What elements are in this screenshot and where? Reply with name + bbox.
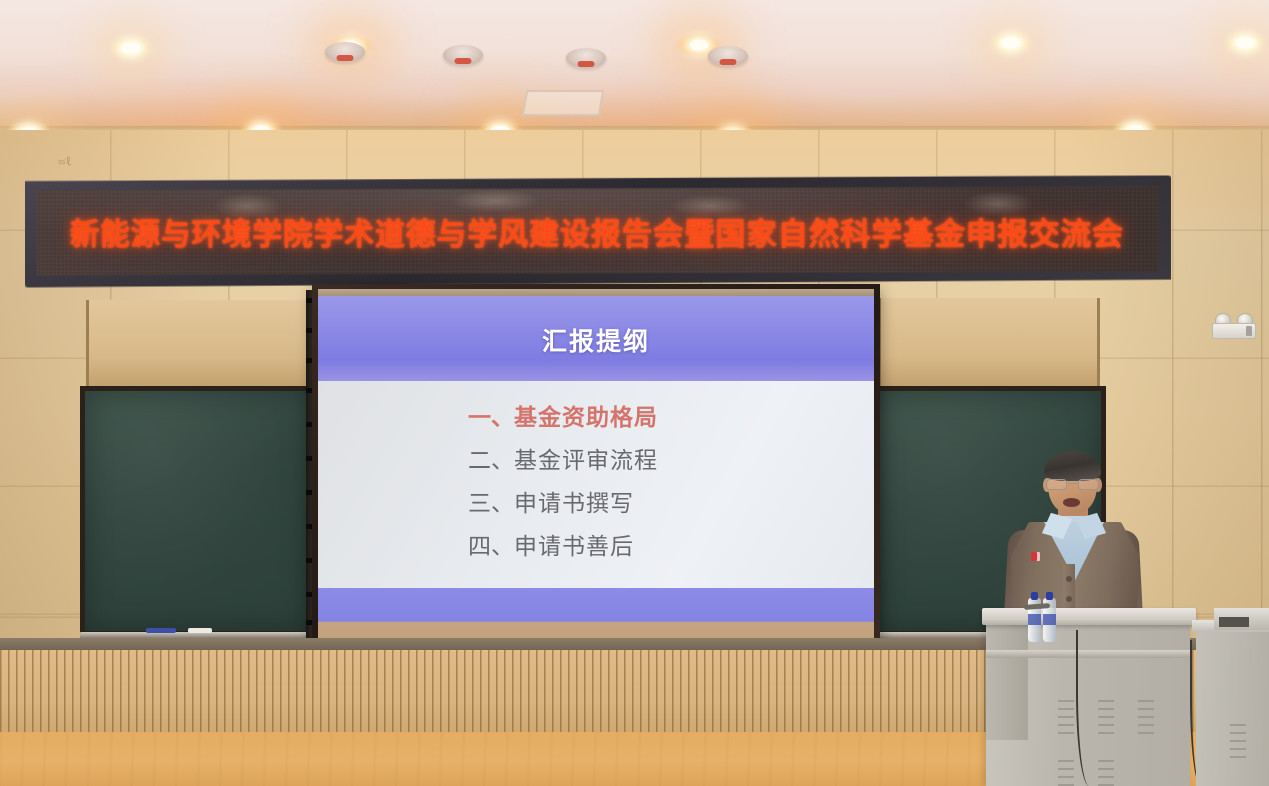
slide-title: 汇报提纲 (542, 322, 650, 358)
smoke-detector-icon (708, 46, 748, 66)
outline-item-label: 申请书撰写 (514, 491, 634, 517)
ceiling-vent (522, 90, 605, 116)
outline-item-label: 申请书善后 (514, 534, 634, 560)
slide-outline-item-1: 一、基金资助格局 (468, 407, 874, 430)
slide-header-band: 汇报提纲 (318, 289, 874, 381)
smoke-detector-icon (566, 48, 606, 68)
led-banner: 新能源与环境学院学术道德与学风建设报告会暨国家自然科学基金申报交流会 (25, 175, 1171, 288)
smoke-detector-icon (443, 45, 483, 65)
presenter-hair (1044, 451, 1101, 481)
slide-outline-list: 一、基金资助格局 二、基金评审流程 三、申请书撰写 四、申请书善后 (318, 381, 874, 588)
emergency-light-icon (1212, 313, 1256, 339)
blackboard-top-panel-left (86, 300, 314, 388)
blackboard-left (80, 386, 314, 638)
side-cabinet-vent-grille (1230, 724, 1246, 764)
podium-vent-grille (1098, 760, 1114, 786)
podium-side-panel (986, 625, 1028, 740)
smoke-detector-icon (325, 42, 365, 62)
outline-item-number: 三、 (468, 491, 514, 517)
chalk-eraser (146, 628, 176, 633)
downlight-icon (988, 30, 1034, 56)
podium-vent-grille (1058, 760, 1074, 786)
presenter-badge (1031, 552, 1040, 561)
downlight-icon (108, 35, 154, 61)
lecture-hall-photo: ≈ℓ 新能源与环境学院学术道德与学风建设报告会暨国家自然科学基金申报交流会 (0, 0, 1269, 786)
presenter (1000, 452, 1146, 630)
podium-vent-grille (1138, 700, 1154, 740)
ceiling (0, 0, 1269, 132)
slide-outline-item-2: 二、基金评审流程 (468, 450, 874, 473)
side-equipment-slot (1219, 617, 1249, 627)
presenter-mouth (1063, 498, 1080, 507)
podium-vent-grille (1098, 700, 1114, 740)
slide-outline-item-4: 四、申请书善后 (468, 536, 874, 559)
slide-outline-item-3: 三、申请书撰写 (468, 493, 874, 516)
slide-footer-band (318, 588, 874, 642)
outline-item-label: 基金资助格局 (514, 405, 658, 431)
outline-item-number: 四、 (468, 534, 514, 560)
glasses-icon (1045, 479, 1100, 490)
blackboard-top-panel-right (878, 298, 1100, 388)
chalk-stick (188, 628, 212, 633)
projection-screen: 汇报提纲 一、基金资助格局 二、基金评审流程 三、申请书撰写 四、申请书善后 (312, 284, 880, 649)
outline-item-number: 二、 (468, 448, 514, 474)
led-banner-screen: 新能源与环境学院学术道德与学风建设报告会暨国家自然科学基金申报交流会 (37, 186, 1159, 276)
led-banner-text: 新能源与环境学院学术道德与学风建设报告会暨国家自然科学基金申报交流会 (70, 208, 1124, 253)
podium-desktop (982, 608, 1196, 625)
outline-item-label: 基金评审流程 (514, 448, 658, 474)
downlight-icon (1222, 30, 1268, 56)
podium-vent-grille (1058, 700, 1074, 740)
outline-item-number: 一、 (468, 405, 514, 431)
presentation-slide: 汇报提纲 一、基金资助格局 二、基金评审流程 三、申请书撰写 四、申请书善后 (318, 289, 874, 642)
